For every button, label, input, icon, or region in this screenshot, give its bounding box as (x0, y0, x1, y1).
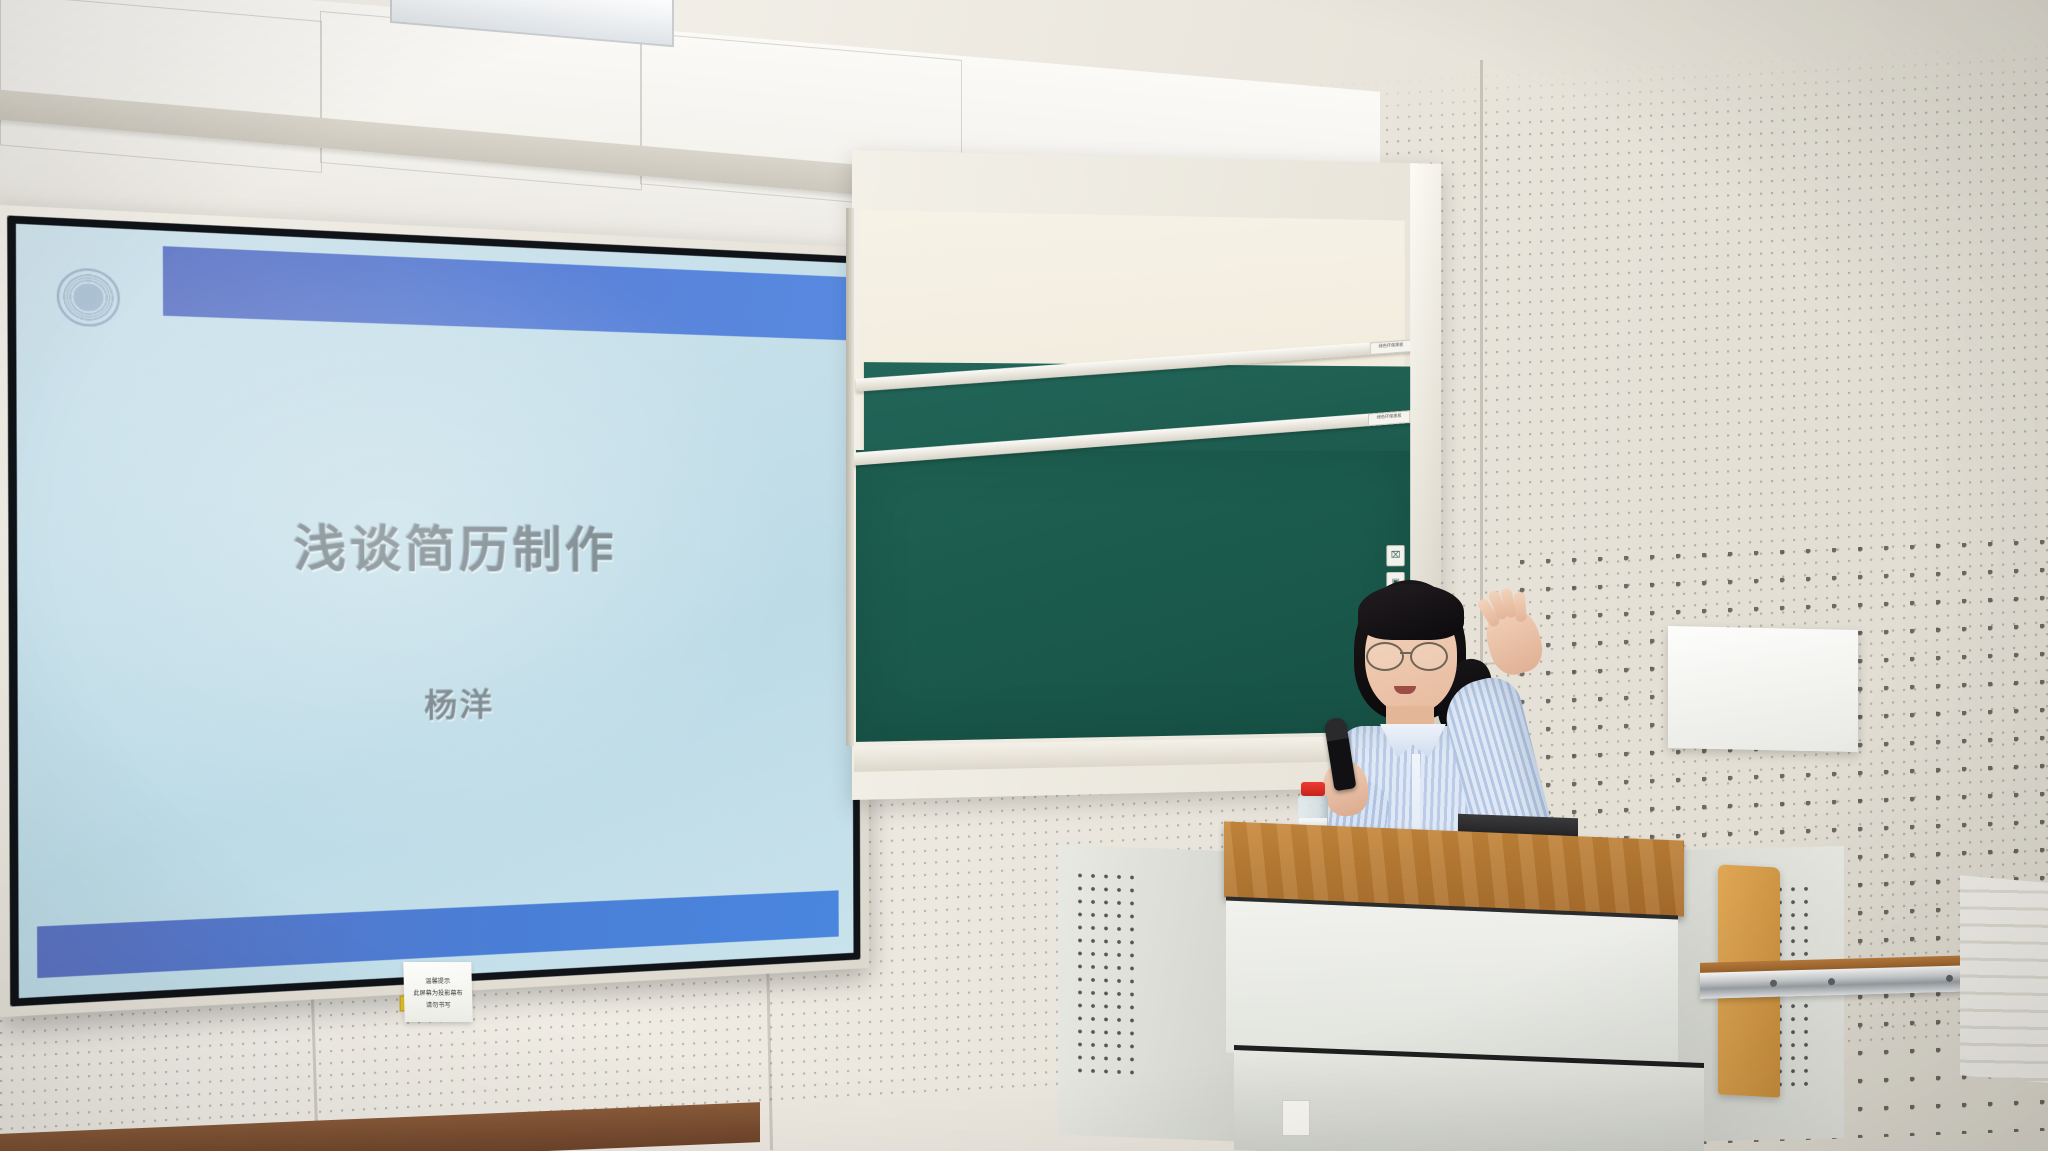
blackboard-left-edge (846, 208, 854, 746)
screen-frame: 浅谈简历制作 杨洋 (0, 205, 869, 1018)
screen-notice-sign: 温馨提示 此屏幕为投影幕布 请勿书写 (403, 962, 472, 1022)
lecture-podium[interactable] (1058, 818, 1758, 1151)
sign-line-2: 此屏幕为投影幕布 (413, 987, 463, 997)
podium-left-panel (1058, 845, 1234, 1142)
screen-bezel: 浅谈简历制作 杨洋 (7, 215, 860, 1006)
sign-line-3: 请勿书写 (426, 999, 451, 1009)
slide-top-bar (163, 246, 851, 341)
lecture-hall-photo: 浅谈简历制作 杨洋 注意 温馨提示 此屏幕为投影幕布 请勿书写 绿色环保黑板 绿… (0, 0, 2048, 1151)
禁止-icon: ⌧ (1386, 545, 1404, 566)
presentation-slide: 浅谈简历制作 杨洋 (16, 224, 854, 998)
bottle-cap[interactable] (1301, 782, 1325, 796)
slide-subtitle: 杨洋 (18, 674, 853, 735)
white-equipment-box (1668, 626, 1858, 752)
slide-title: 浅谈简历制作 (17, 506, 852, 581)
step-riser-panel (1960, 875, 2048, 1085)
raised-hand (1480, 602, 1548, 680)
podium-front-panel (1226, 897, 1678, 1072)
university-seal-icon (53, 264, 124, 331)
projection-screen[interactable]: 浅谈简历制作 杨洋 注意 (0, 205, 869, 1018)
ceiling-tile (0, 0, 322, 173)
glasses-icon (1366, 642, 1454, 668)
hair-fringe (1358, 584, 1464, 640)
wall-outlet[interactable] (1282, 1100, 1310, 1136)
sign-line-1: 温馨提示 (425, 975, 450, 985)
